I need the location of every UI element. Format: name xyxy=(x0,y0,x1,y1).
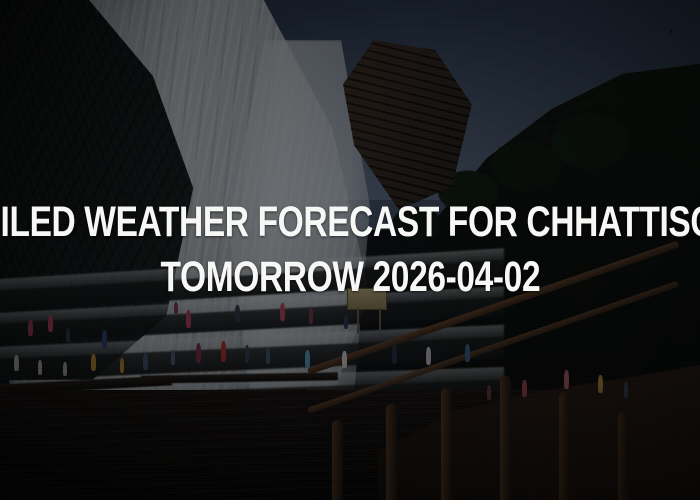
tourist-figure xyxy=(522,380,527,397)
tourist-figure xyxy=(598,375,603,393)
tourist-figure xyxy=(266,348,270,364)
railing-post xyxy=(500,376,511,500)
tourist-figure xyxy=(28,320,33,336)
tourist-figure xyxy=(120,358,124,373)
tourist-figure xyxy=(91,354,96,371)
tree-branch xyxy=(462,30,672,200)
log-railing xyxy=(308,300,700,500)
weather-forecast-banner: DETAILED WEATHER FORECAST FOR CHHATTISGA… xyxy=(0,0,700,500)
tourist-figure xyxy=(63,362,67,376)
tourist-figure xyxy=(221,341,226,362)
tourist-figure xyxy=(143,353,148,370)
tourist-figure xyxy=(38,360,42,375)
railing-post xyxy=(332,420,343,500)
railing-post xyxy=(386,404,397,500)
tourist-figure xyxy=(66,328,70,342)
tourist-figure xyxy=(392,345,397,364)
background-photo xyxy=(0,0,700,500)
tourist-figure xyxy=(342,351,347,368)
tourist-figure xyxy=(245,345,249,363)
tourist-figure xyxy=(174,302,178,314)
tourist-figure xyxy=(465,344,470,362)
tourist-figure xyxy=(426,347,431,365)
tourist-figure xyxy=(305,350,310,368)
tourist-figure xyxy=(48,315,53,332)
railing-post xyxy=(618,412,629,500)
tourist-figure xyxy=(344,315,348,329)
tourist-figure xyxy=(171,350,175,365)
tourist-figure xyxy=(186,310,191,328)
tourist-figure xyxy=(235,305,240,322)
tourist-figure xyxy=(564,370,569,389)
tourist-figure xyxy=(280,303,285,321)
railing-post xyxy=(441,388,452,500)
tourist-figure xyxy=(487,385,491,400)
tourist-figure xyxy=(196,343,201,363)
railing-post xyxy=(559,392,570,500)
tourist-figure xyxy=(14,355,19,371)
tourist-figure xyxy=(102,330,107,348)
